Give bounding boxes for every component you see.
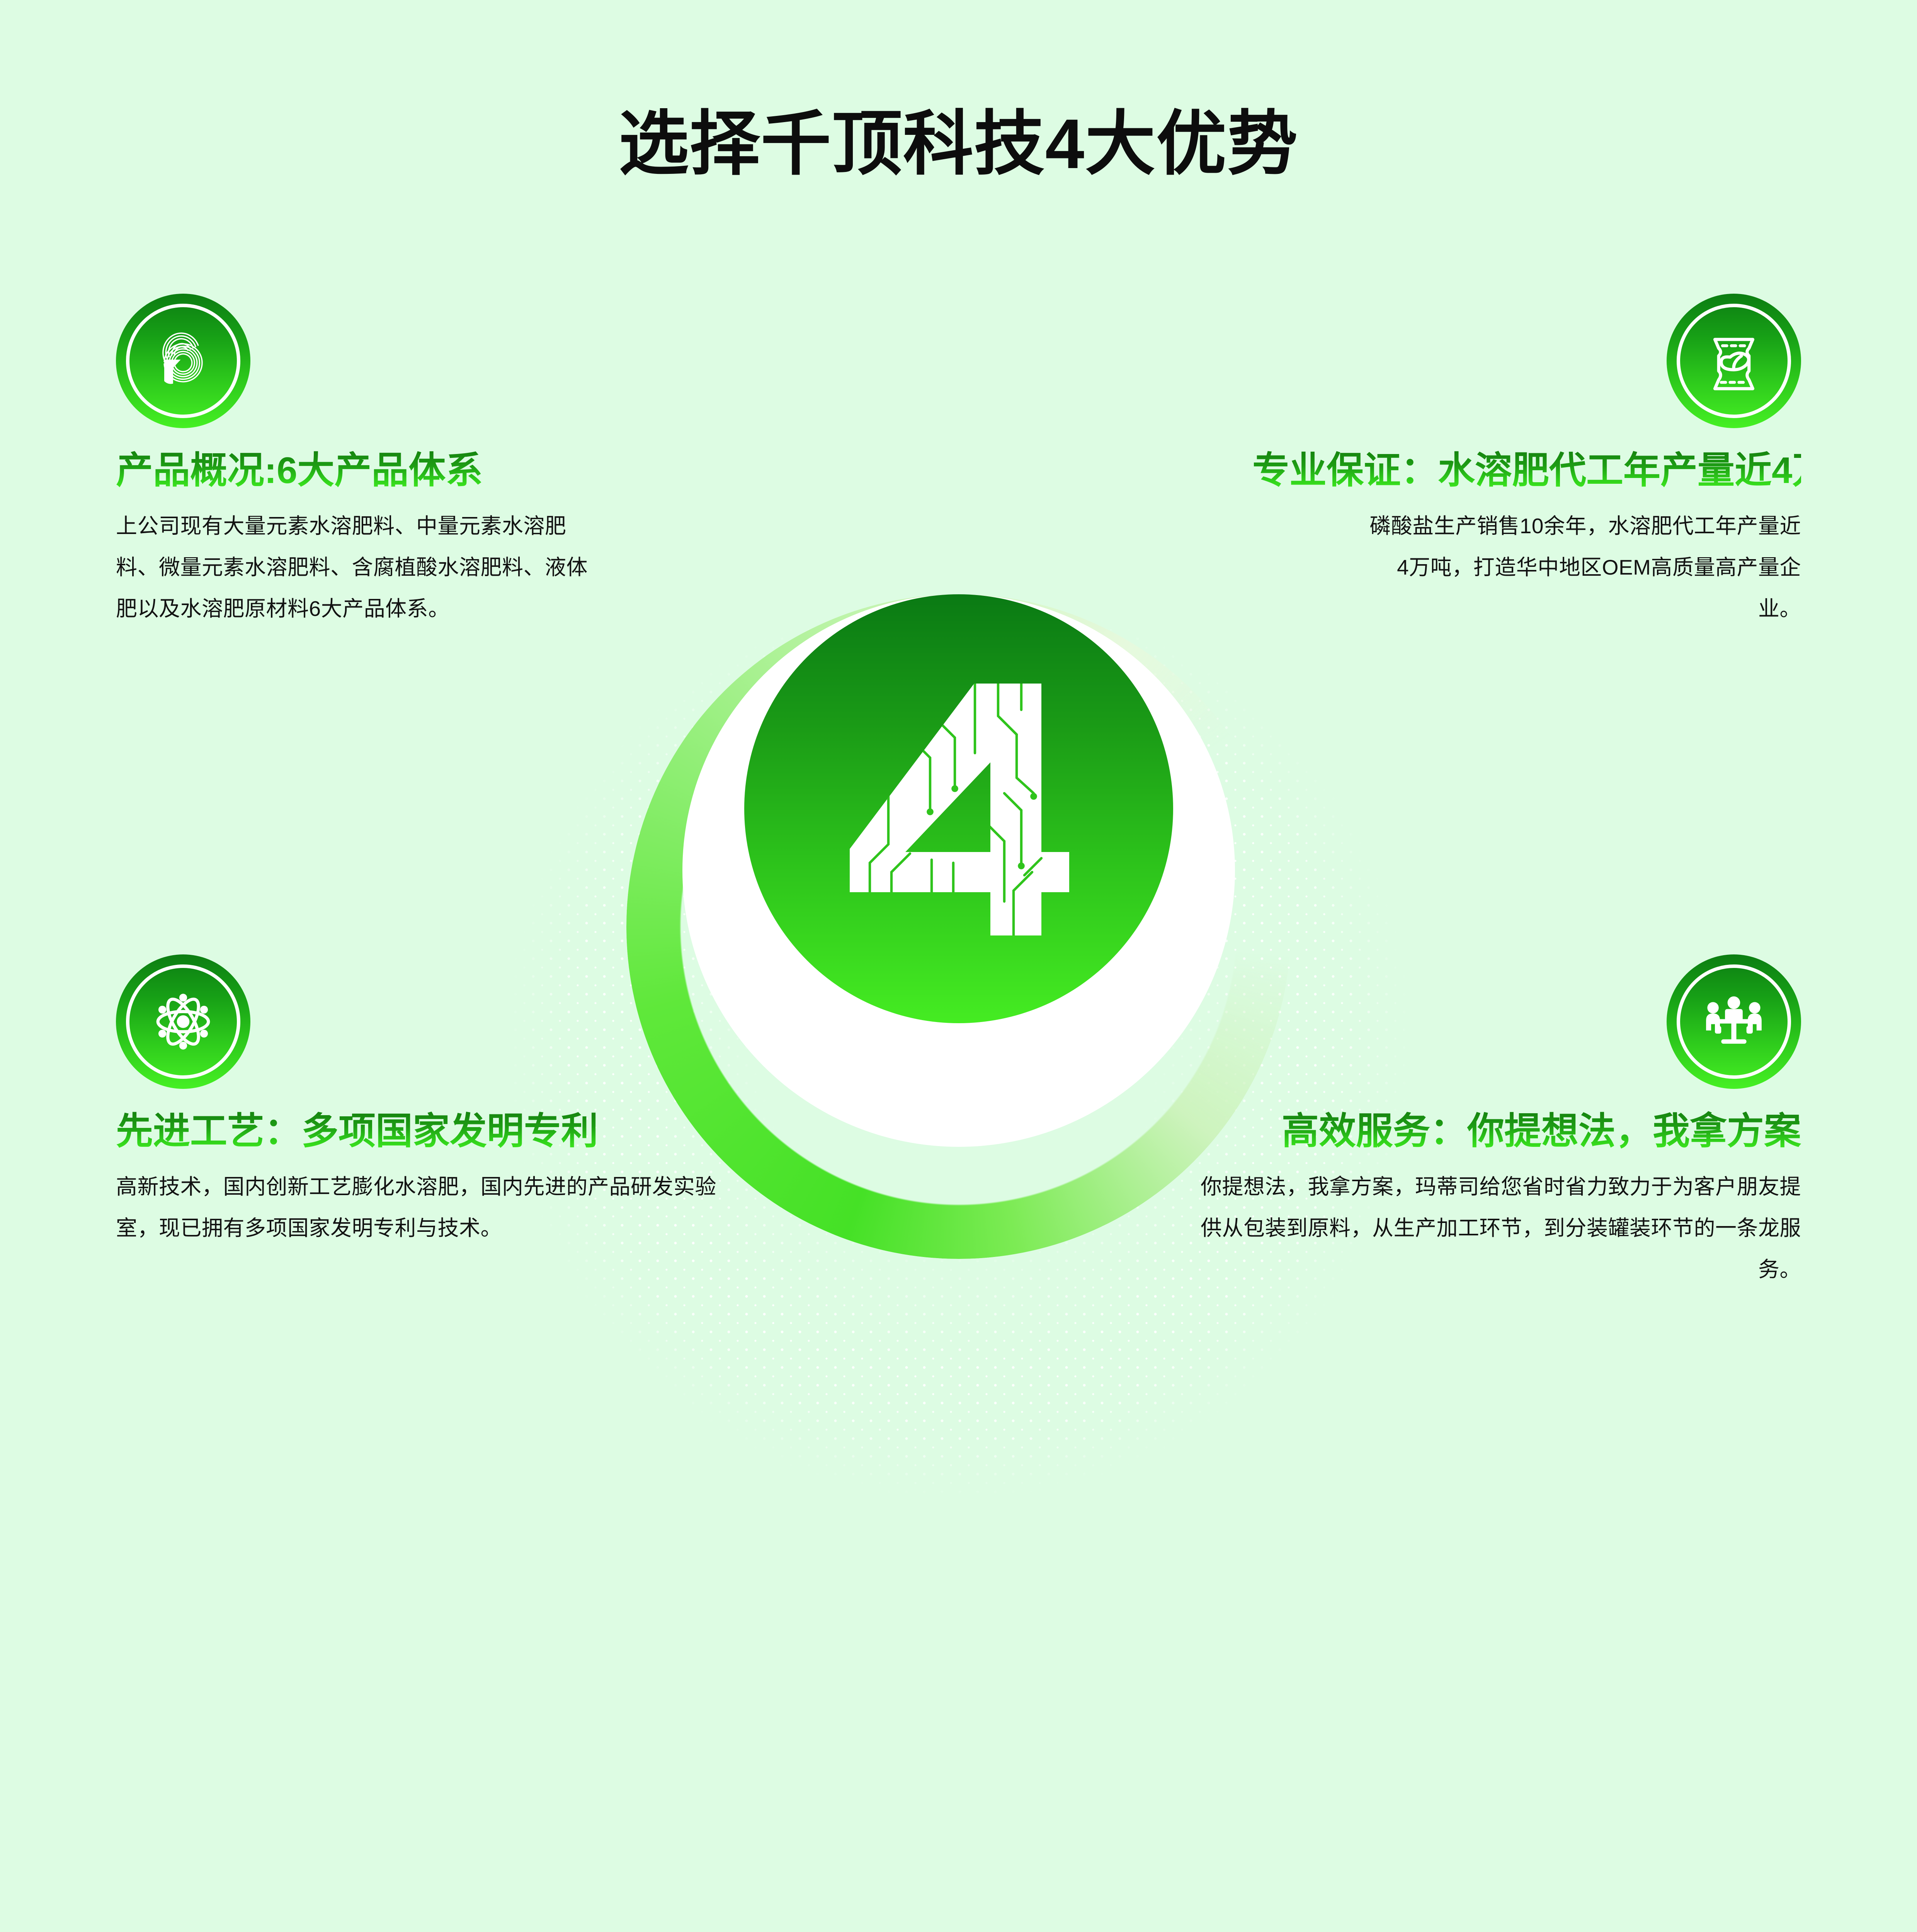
team-meeting-icon <box>1667 954 1801 1089</box>
team-meeting-glyph <box>1696 984 1772 1060</box>
card-body: 磷酸盐生产销售10余年，水溶肥代工年产量近4万吨，打造华中地区OEM高质量高产量… <box>1361 505 1801 630</box>
card-body: 上公司现有大量元素水溶肥料、中量元素水溶肥料、微量元素水溶肥料、含腐植酸水溶肥料… <box>116 505 597 630</box>
advantage-card-capacity: 专业保证：水溶肥代工年产量近4万吨 磷酸盐生产销售10余年，水溶肥代工年产量近4… <box>1252 294 1801 629</box>
atom-icon <box>116 954 250 1089</box>
advantage-card-product-overview: 产品概况:6大产品体系 上公司现有大量元素水溶肥料、中量元素水溶肥料、微量元素水… <box>116 294 597 629</box>
card-heading: 专业保证：水溶肥代工年产量近4万吨 <box>1252 450 1801 492</box>
center-number-disc <box>744 594 1173 1023</box>
advantage-card-technology: 先进工艺：多项国家发明专利 高新技术，国内创新工艺膨化水溶肥，国内先进的产品研发… <box>116 954 757 1249</box>
advantage-card-service: 高效服务：你提想法，我拿方案 你提想法，我拿方案，玛蒂司给您省时省力致力于为客户… <box>1148 954 1801 1290</box>
atom-glyph <box>145 984 221 1060</box>
card-heading: 高效服务：你提想法，我拿方案 <box>1148 1111 1801 1152</box>
card-body: 你提想法，我拿方案，玛蒂司给您省时省力致力于为客户朋友提供从包装到原料，从生产加… <box>1183 1166 1801 1291</box>
card-heading: 产品概况:6大产品体系 <box>116 450 597 492</box>
number-six-concentric-glyph <box>145 323 221 399</box>
number-six-concentric-icon <box>116 294 250 428</box>
card-heading: 先进工艺：多项国家发明专利 <box>116 1111 757 1152</box>
fertilizer-bag-glyph <box>1696 323 1772 399</box>
page-title: 选择千顶科技4大优势 <box>0 87 1917 189</box>
fertilizer-bag-icon <box>1667 294 1801 428</box>
number-four-circuit-icon <box>839 670 1078 948</box>
card-body: 高新技术，国内创新工艺膨化水溶肥，国内先进的产品研发实验室，现已拥有多项国家发明… <box>116 1166 757 1249</box>
